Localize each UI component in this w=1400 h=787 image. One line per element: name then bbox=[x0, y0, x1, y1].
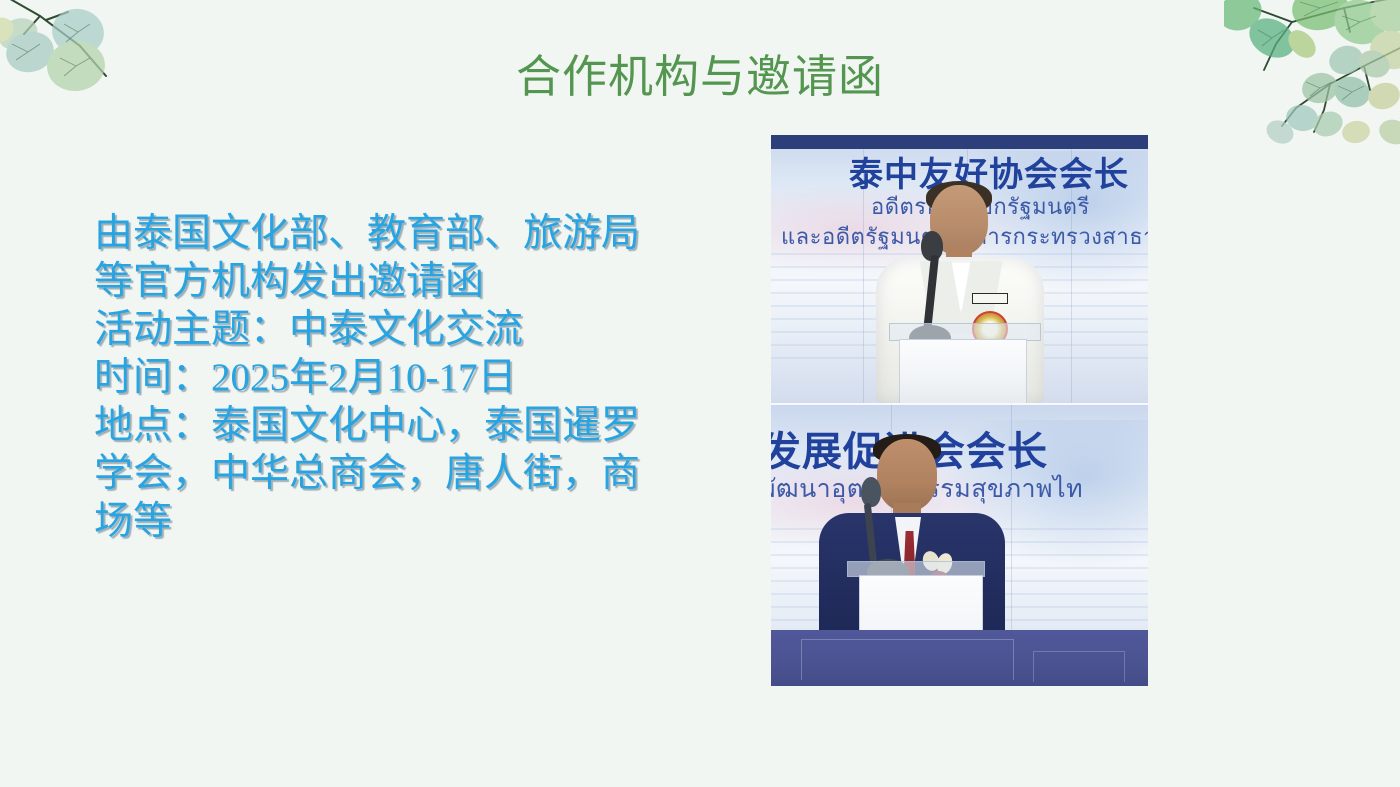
photo-collage: 泰中友好协会会长 อดีตรองนายกรัฐมนตรี และอดีตรัฐม… bbox=[771, 135, 1148, 686]
podium-front: กระทรวงสาธารณสุข MINISTRY OF PUBLIC HEAL… bbox=[899, 339, 1027, 403]
body-line: 时间：2025年2月10-17日 bbox=[94, 354, 694, 402]
slide-canvas: 合作机构与邀请函 由泰国文化部、教育部、旅游局 等官方机构发出邀请函 活动主题：… bbox=[0, 0, 1400, 787]
body-line: 学会，中华总商会，唐人街，商 bbox=[94, 450, 694, 498]
photo-speaker-navy-suit: 发展促进会会长 พัฒนาอุตสาหกรรมสุขภาพไท bbox=[771, 403, 1148, 686]
photo-speaker-white-jacket: 泰中友好协会会长 อดีตรองนายกรัฐมนตรี และอดีตรัฐม… bbox=[771, 135, 1148, 403]
speaker-head bbox=[877, 439, 937, 511]
backdrop-bottom-band bbox=[771, 630, 1148, 686]
body-text-block: 由泰国文化部、教育部、旅游局 等官方机构发出邀请函 活动主题：中泰文化交流 时间… bbox=[94, 210, 694, 546]
microphone-head bbox=[861, 477, 881, 507]
page-title: 合作机构与邀请函 bbox=[0, 49, 1400, 105]
body-line: 由泰国文化部、教育部、旅游局 bbox=[94, 210, 694, 258]
body-line: 地点：泰国文化中心，泰国暹罗 bbox=[94, 402, 694, 450]
speaker-name-tag bbox=[972, 293, 1008, 304]
body-line: 场等 bbox=[94, 498, 694, 546]
body-line: 等官方机构发出邀请函 bbox=[94, 258, 694, 306]
body-line: 活动主题：中泰文化交流 bbox=[94, 306, 694, 354]
